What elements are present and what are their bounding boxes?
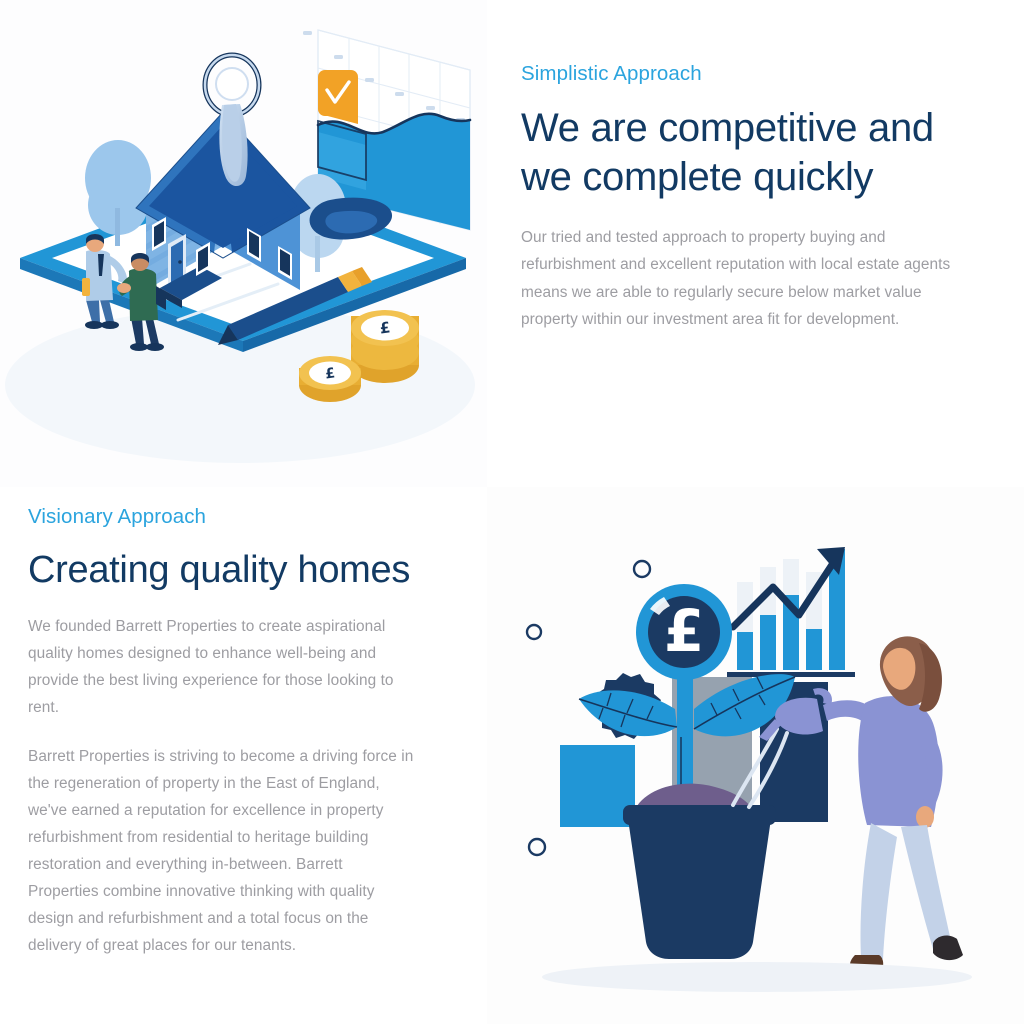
pound-coin-stack: £ <box>351 310 419 383</box>
floor-shadow <box>542 962 972 992</box>
simplistic-headline: We are competitive and we complete quick… <box>521 104 974 202</box>
visionary-eyebrow: Visionary Approach <box>28 505 417 529</box>
pound-coin-flower: £ <box>636 584 732 680</box>
decor-circle-bottom <box>529 839 545 855</box>
two-by-two-content-grid: £ £ <box>0 0 1024 1024</box>
property-purchase-illustration-panel: £ £ <box>0 0 487 487</box>
handshake <box>117 283 131 293</box>
leaf-left <box>579 690 677 736</box>
isometric-property-illustration: £ £ <box>0 0 487 487</box>
plant-pot <box>623 805 776 959</box>
visionary-approach-text-panel: Visionary Approach Creating quality home… <box>0 487 487 1024</box>
pound-symbol: £ <box>664 597 704 665</box>
visionary-body-second: Barrett Properties is striving to become… <box>28 743 417 959</box>
briefcase-left <box>82 278 90 296</box>
simplistic-eyebrow: Simplistic Approach <box>521 62 974 86</box>
simplistic-approach-text-panel: Simplistic Approach We are competitive a… <box>487 0 1024 487</box>
decor-circle-top <box>634 561 650 577</box>
hand-on-hip <box>916 806 934 828</box>
pound-coin-single: £ <box>299 356 361 402</box>
visionary-headline: Creating quality homes <box>28 547 417 593</box>
decor-circle-left <box>527 625 541 639</box>
orange-check-badge <box>318 70 358 124</box>
visionary-body-first: We founded Barrett Properties to create … <box>28 613 417 721</box>
bar-chart-rising <box>727 547 855 677</box>
growth-plant-illustration-panel: £ <box>487 487 1024 1024</box>
money-plant-growth-illustration: £ <box>487 487 1024 1024</box>
simplistic-body: Our tried and tested approach to propert… <box>521 224 974 334</box>
